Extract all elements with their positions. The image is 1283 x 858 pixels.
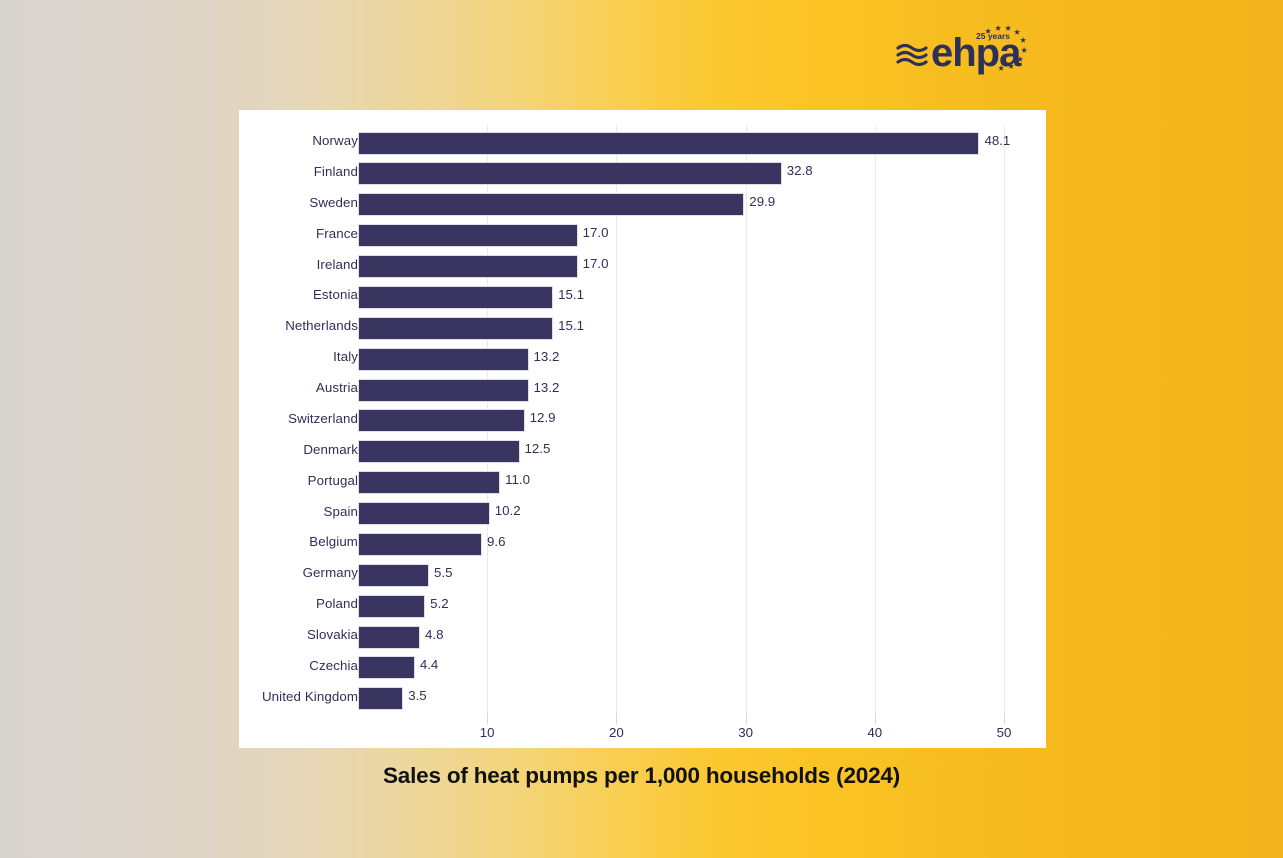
bar-value-label: 48.1 (984, 133, 1010, 148)
bar-chart: Norway48.1Finland32.8Sweden29.9France17.… (239, 110, 1046, 748)
bar-value-label: 17.0 (583, 256, 609, 271)
bar-row: Spain10.2 (239, 499, 1046, 530)
bar-row: Norway48.1 (239, 128, 1046, 159)
screenshot-root: ehpa 25 years (0, 0, 1283, 858)
category-label: Portugal (98, 473, 358, 488)
bar-container (358, 440, 520, 463)
x-tick-label: 20 (609, 725, 624, 740)
bar[interactable] (358, 502, 490, 525)
bar-row: Estonia15.1 (239, 282, 1046, 313)
bar-container (358, 317, 553, 340)
bar-value-label: 4.8 (425, 627, 444, 642)
bar-container (358, 348, 529, 371)
chart-caption: Sales of heat pumps per 1,000 households… (0, 763, 1283, 789)
bar-container (358, 286, 553, 309)
bar-value-label: 5.2 (430, 596, 449, 611)
bar[interactable] (358, 286, 553, 309)
bar-container (358, 255, 578, 278)
category-label: France (98, 226, 358, 241)
bar-container (358, 564, 429, 587)
bar-container (358, 533, 482, 556)
bar-container (358, 626, 420, 649)
bar-value-label: 12.5 (525, 441, 551, 456)
bar-container (358, 379, 529, 402)
bar-row: Finland32.8 (239, 159, 1046, 190)
bar[interactable] (358, 626, 420, 649)
category-label: Germany (98, 565, 358, 580)
category-label: Denmark (98, 442, 358, 457)
x-tick-label: 50 (997, 725, 1012, 740)
bar[interactable] (358, 595, 425, 618)
x-tick-mark (746, 713, 747, 723)
category-label: Switzerland (98, 411, 358, 426)
bar-value-label: 11.0 (505, 472, 530, 487)
bar-value-label: 13.2 (534, 380, 560, 395)
bar[interactable] (358, 409, 525, 432)
bar-value-label: 3.5 (408, 688, 427, 703)
anniversary-label: 25 years (976, 31, 1010, 41)
bar[interactable] (358, 193, 744, 216)
chart-panel: Norway48.1Finland32.8Sweden29.9France17.… (239, 110, 1046, 748)
bar[interactable] (358, 162, 782, 185)
bar[interactable] (358, 224, 578, 247)
bar-value-label: 15.1 (558, 287, 584, 302)
bar-row: Sweden29.9 (239, 190, 1046, 221)
category-label: Austria (98, 380, 358, 395)
category-label: Slovakia (98, 627, 358, 642)
bar-container (358, 595, 425, 618)
bar-value-label: 29.9 (749, 194, 775, 209)
bar-value-label: 32.8 (787, 163, 813, 178)
category-label: Sweden (98, 195, 358, 210)
bar-container (358, 409, 525, 432)
bar[interactable] (358, 533, 482, 556)
category-label: Norway (98, 133, 358, 148)
bar-row: Austria13.2 (239, 375, 1046, 406)
bar[interactable] (358, 317, 553, 340)
category-label: Belgium (98, 534, 358, 549)
bar-row: Switzerland12.9 (239, 406, 1046, 437)
x-tick-mark (875, 713, 876, 723)
x-tick-mark (616, 713, 617, 723)
bar-value-label: 10.2 (495, 503, 521, 518)
category-label: Finland (98, 164, 358, 179)
bar-row: Ireland17.0 (239, 252, 1046, 283)
x-tick-mark (1004, 713, 1005, 723)
bar-value-label: 15.1 (558, 318, 584, 333)
bar-container (358, 162, 782, 185)
bar[interactable] (358, 379, 529, 402)
bar-container (358, 193, 744, 216)
ehpa-logo: ehpa 25 years (896, 20, 1036, 76)
wave-icon (898, 46, 926, 65)
bar-row: Portugal11.0 (239, 468, 1046, 499)
x-tick-mark (487, 713, 488, 723)
category-label: Spain (98, 504, 358, 519)
bar-row: Czechia4.4 (239, 653, 1046, 684)
ehpa-logo-graphic: ehpa 25 years (896, 20, 1036, 76)
bar-row: Netherlands15.1 (239, 313, 1046, 344)
bar-row: Denmark12.5 (239, 437, 1046, 468)
bar-container (358, 471, 500, 494)
bar-value-label: 17.0 (583, 225, 609, 240)
x-tick-label: 40 (867, 725, 882, 740)
category-label: Poland (98, 596, 358, 611)
bar[interactable] (358, 348, 529, 371)
x-tick-label: 30 (738, 725, 753, 740)
bar[interactable] (358, 471, 500, 494)
bar[interactable] (358, 255, 578, 278)
bar-row: Poland5.2 (239, 591, 1046, 622)
bar-value-label: 12.9 (530, 410, 556, 425)
bar[interactable] (358, 656, 415, 679)
bar-container (358, 656, 415, 679)
chart-bar-rows: Norway48.1Finland32.8Sweden29.9France17.… (239, 128, 1046, 715)
category-label: Netherlands (98, 318, 358, 333)
bar[interactable] (358, 687, 403, 710)
bar-row: Italy13.2 (239, 344, 1046, 375)
bar-container (358, 687, 403, 710)
bar-value-label: 9.6 (487, 534, 506, 549)
bar-row: Slovakia4.8 (239, 622, 1046, 653)
bar[interactable] (358, 564, 429, 587)
bar[interactable] (358, 440, 520, 463)
bar-value-label: 13.2 (534, 349, 560, 364)
category-label: Czechia (98, 658, 358, 673)
bar[interactable] (358, 132, 979, 155)
bar-row: France17.0 (239, 221, 1046, 252)
bar-row: Belgium9.6 (239, 529, 1046, 560)
category-label: United Kingdom (98, 689, 358, 704)
category-label: Estonia (98, 287, 358, 302)
bar-container (358, 224, 578, 247)
bar-container (358, 132, 979, 155)
bar-container (358, 502, 490, 525)
bar-value-label: 4.4 (420, 657, 439, 672)
bar-row: Germany5.5 (239, 560, 1046, 591)
category-label: Ireland (98, 257, 358, 272)
bar-row: United Kingdom3.5 (239, 684, 1046, 715)
category-label: Italy (98, 349, 358, 364)
x-tick-label: 10 (480, 725, 495, 740)
x-axis: 1020304050 (239, 725, 1046, 755)
bar-value-label: 5.5 (434, 565, 453, 580)
